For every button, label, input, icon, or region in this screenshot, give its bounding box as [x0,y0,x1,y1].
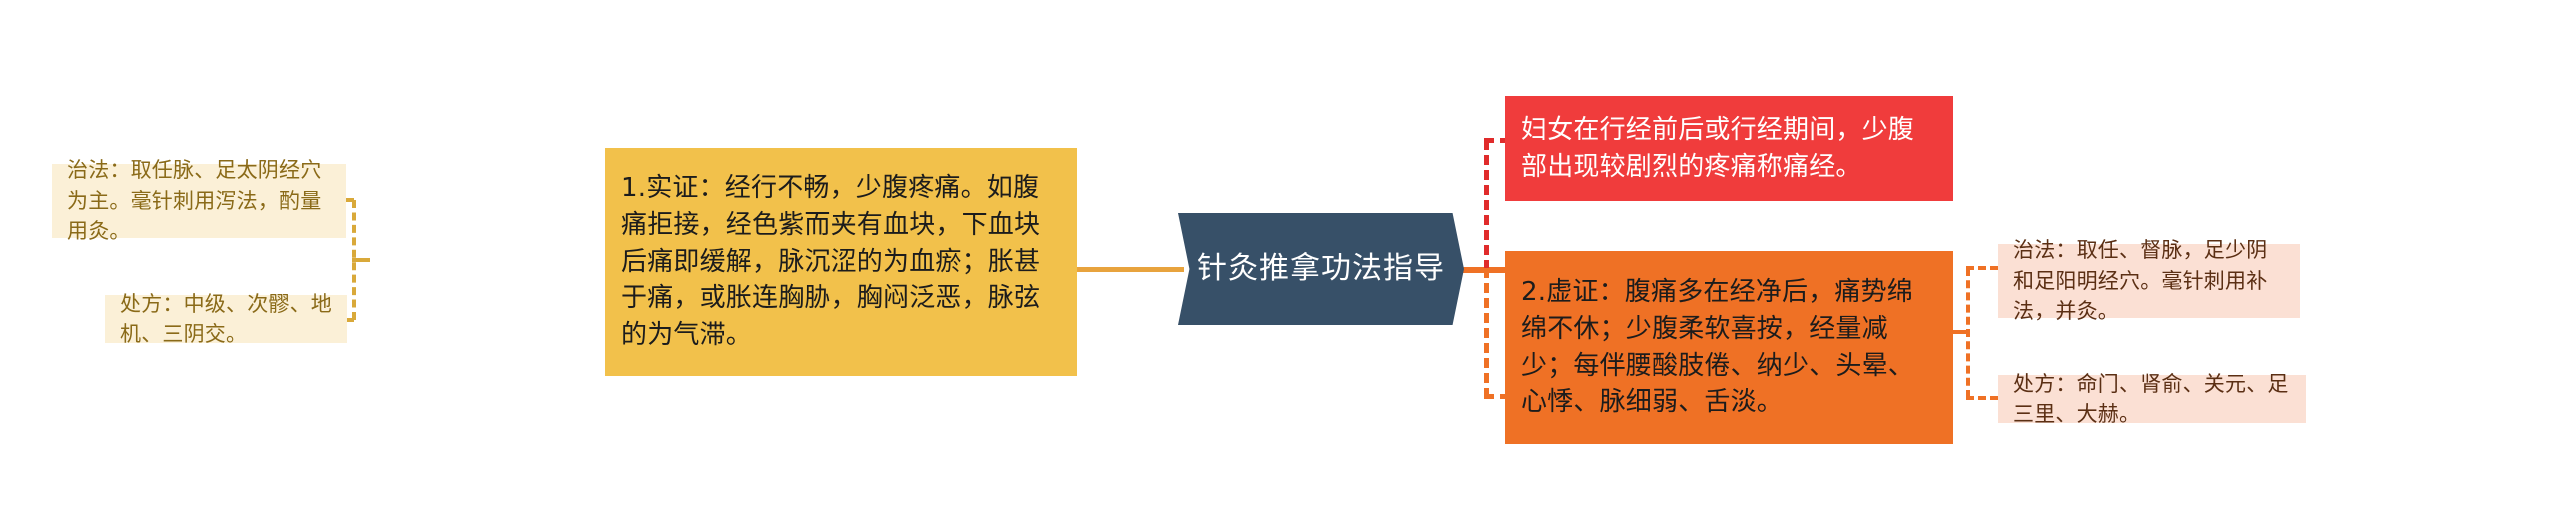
connector-center-to-excess [1072,267,1184,272]
node-text: 治法：取任、督脉，足少阴和足阳明经穴。毫针刺用补法，并灸。 [2013,235,2285,326]
node-excess-child-prescription[interactable]: 处方：中级、次髎、地机、三阴交。 [105,295,347,343]
connector-arm-deficiency-child-2 [1966,396,1998,400]
node-excess-syndrome[interactable]: 1.实证：经行不畅，少腹疼痛。如腹痛拒接，经色紫而夹有血块，下血块后痛即缓解，脉… [605,148,1077,376]
node-definition[interactable]: 妇女在行经前后或行经期间，少腹部出现较剧烈的疼痛称痛经。 [1505,96,1953,201]
node-deficiency-child-prescription[interactable]: 处方：命门、肾俞、关元、足三里、大赫。 [1998,375,2306,423]
connector-trunk-definition [1484,140,1489,270]
node-text: 2.虚证：腹痛多在经净后，痛势绵绵不休；少腹柔软喜按，经量减少；每伴腰酸肢倦、纳… [1521,274,1937,422]
connector-arm-deficiency-child-1 [1966,266,1998,270]
node-text: 处方：命门、肾俞、关元、足三里、大赫。 [2013,369,2291,430]
node-text: 治法：取任脉、足太阴经穴为主。毫针刺用泻法，酌量用灸。 [67,155,331,246]
node-text: 妇女在行经前后或行经期间，少腹部出现较剧烈的疼痛称痛经。 [1521,112,1937,186]
node-text: 1.实证：经行不畅，少腹疼痛。如腹痛拒接，经色紫而夹有血块，下血块后痛即缓解，脉… [621,170,1059,355]
node-center-title[interactable]: 针灸推拿功法指导 [1178,213,1464,325]
node-excess-child-treatment[interactable]: 治法：取任脉、足太阴经穴为主。毫针刺用泻法，酌量用灸。 [52,164,346,238]
connector-stub-excess-children [352,258,370,262]
node-text: 处方：中级、次髎、地机、三阴交。 [120,289,332,350]
connector-stub-deficiency-children [1952,330,1970,334]
connector-trunk-deficiency [1484,268,1489,398]
node-deficiency-child-treatment[interactable]: 治法：取任、督脉，足少阴和足阳明经穴。毫针刺用补法，并灸。 [1998,244,2300,318]
mindmap-canvas: 治法：取任脉、足太阴经穴为主。毫针刺用泻法，酌量用灸。 处方：中级、次髎、地机、… [0,0,2560,526]
center-title-text: 针灸推拿功法指导 [1197,251,1445,287]
node-deficiency-syndrome[interactable]: 2.虚证：腹痛多在经净后，痛势绵绵不休；少腹柔软喜按，经量减少；每伴腰酸肢倦、纳… [1505,251,1953,444]
